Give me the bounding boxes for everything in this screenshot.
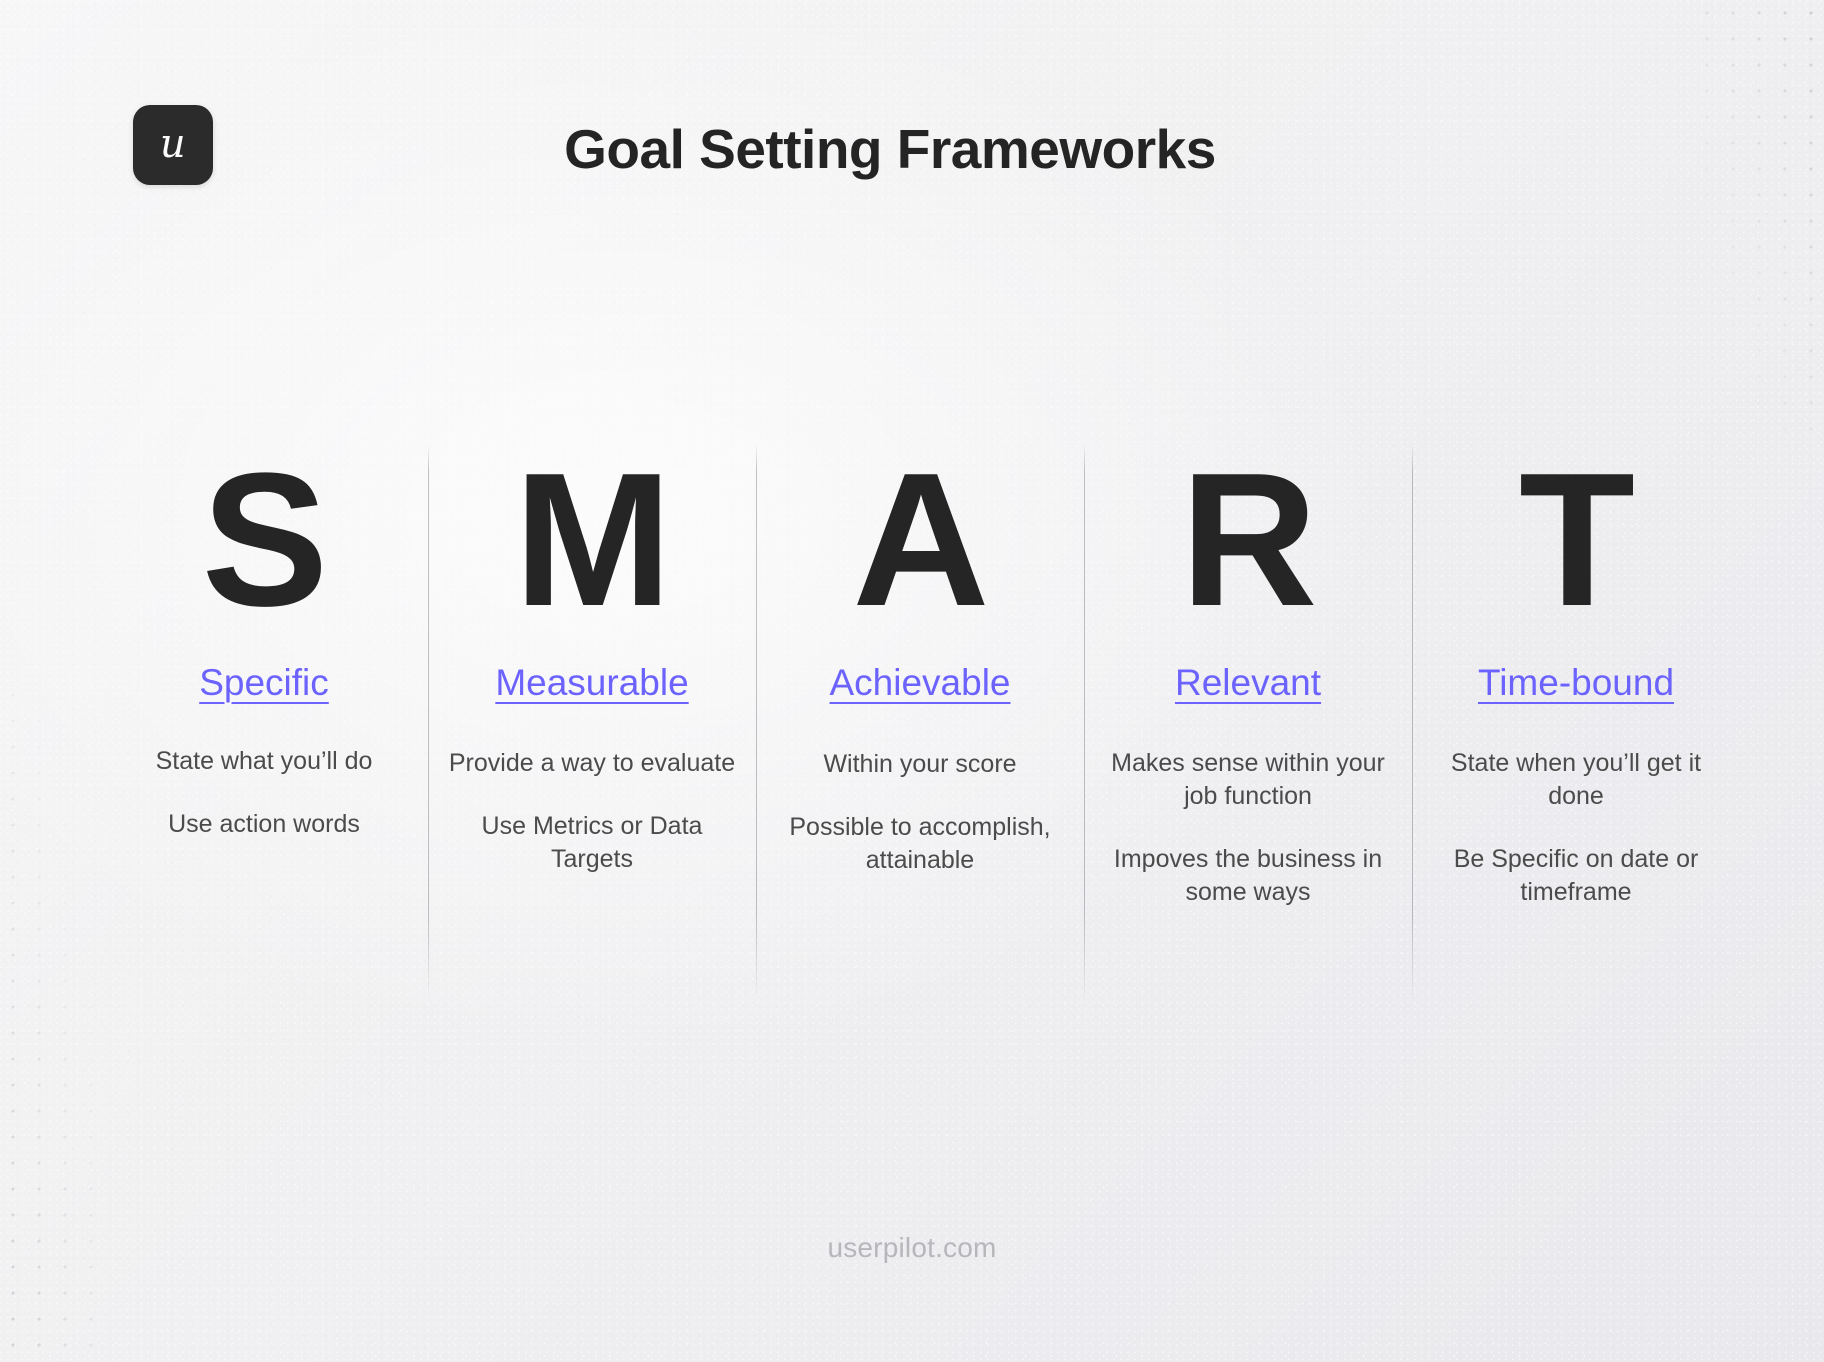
column-paragraph: Impoves the business in some ways xyxy=(1098,843,1398,910)
smart-columns: S Specific State what you’ll do Use acti… xyxy=(100,440,1740,1100)
column-letter: S xyxy=(202,440,327,640)
column-paragraph: State what you’ll do xyxy=(114,745,414,778)
column-paragraph: Possible to accomplish, attainable xyxy=(770,811,1070,878)
column-letter: A xyxy=(852,440,987,640)
footer-website[interactable]: userpilot.com xyxy=(0,1232,1824,1264)
column-letter: M xyxy=(514,440,670,640)
page-title: Goal Setting Frameworks xyxy=(300,117,1480,181)
logo-u-icon: u xyxy=(160,124,186,164)
column-heading-time-bound[interactable]: Time-bound xyxy=(1478,662,1674,705)
column-body: State what you’ll do Use action words xyxy=(114,745,414,842)
smart-column-relevant: R Relevant Makes sense within your job f… xyxy=(1084,440,1412,1100)
column-heading-relevant[interactable]: Relevant xyxy=(1175,662,1321,705)
column-letter: T xyxy=(1519,440,1633,640)
infographic-canvas: u Goal Setting Frameworks S Specific Sta… xyxy=(0,0,1824,1362)
column-paragraph: Use action words xyxy=(114,808,414,841)
column-heading-specific[interactable]: Specific xyxy=(199,662,329,705)
column-body: Provide a way to evaluate Use Metrics or… xyxy=(442,747,742,877)
column-heading-measurable[interactable]: Measurable xyxy=(495,662,688,705)
userpilot-logo: u xyxy=(133,105,213,185)
column-letter: R xyxy=(1180,440,1315,640)
column-paragraph: Be Specific on date or timeframe xyxy=(1426,843,1726,910)
smart-column-time-bound: T Time-bound State when you’ll get it do… xyxy=(1412,440,1740,1100)
smart-column-specific: S Specific State what you’ll do Use acti… xyxy=(100,440,428,1100)
column-paragraph: State when you’ll get it done xyxy=(1426,747,1726,814)
column-body: State when you’ll get it done Be Specifi… xyxy=(1426,747,1726,910)
smart-column-achievable: A Achievable Within your score Possible … xyxy=(756,440,1084,1100)
column-heading-achievable[interactable]: Achievable xyxy=(829,662,1010,705)
column-paragraph: Within your score xyxy=(770,748,1070,781)
column-paragraph: Use Metrics or Data Targets xyxy=(442,810,742,877)
header: u Goal Setting Frameworks xyxy=(0,0,1824,240)
column-body: Within your score Possible to accomplish… xyxy=(770,748,1070,878)
smart-column-measurable: M Measurable Provide a way to evaluate U… xyxy=(428,440,756,1100)
column-body: Makes sense within your job function Imp… xyxy=(1098,747,1398,910)
column-paragraph: Provide a way to evaluate xyxy=(442,747,742,780)
column-paragraph: Makes sense within your job function xyxy=(1098,747,1398,814)
